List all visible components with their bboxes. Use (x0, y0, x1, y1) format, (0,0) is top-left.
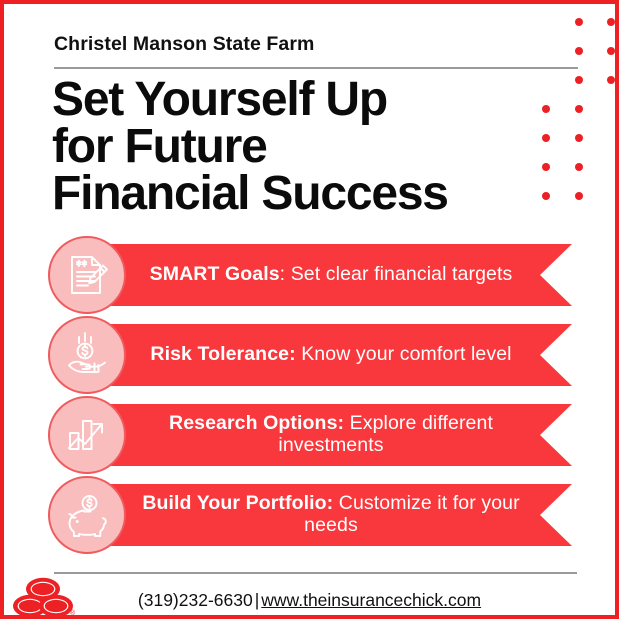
tip-text: Research Options: Explore different inve… (134, 404, 528, 466)
ribbon-notch (540, 324, 572, 386)
tip-row: Build Your Portfolio: Customize it for y… (4, 476, 619, 556)
tip-icon-badge (48, 476, 126, 554)
headline-line-3: Financial Success (52, 170, 522, 217)
hand-holding-coin-icon (64, 332, 110, 378)
infographic-poster: Christel Manson State Farm Set Yourself … (0, 0, 619, 619)
piggy-bank-coin-icon (64, 492, 110, 538)
bar-chart-growth-arrow-icon (64, 412, 110, 458)
footer-divider (54, 572, 577, 574)
tip-ribbon: Research Options: Explore different inve… (86, 404, 572, 466)
header-divider (54, 67, 578, 69)
ribbon-notch (540, 244, 572, 306)
tip-row: SMART Goals: Set clear financial targets (4, 236, 619, 316)
tip-icon-badge (48, 396, 126, 474)
tip-ribbon: Risk Tolerance: Know your comfort level (86, 324, 572, 386)
tip-ribbon: SMART Goals: Set clear financial targets (86, 244, 572, 306)
decorative-dot (575, 47, 583, 55)
decorative-dot (575, 76, 583, 84)
headline-line-2: for Future (52, 123, 522, 170)
website-link[interactable]: www.theinsurancechick.com (261, 590, 481, 610)
tip-label: Research Options: (169, 412, 344, 434)
tip-row: Risk Tolerance: Know your comfort level (4, 316, 619, 396)
contact-line: (319)232-6630|www.theinsurancechick.com (4, 590, 615, 611)
dot-grid (534, 4, 619, 204)
decorative-dot (575, 18, 583, 26)
tip-row: Research Options: Explore different inve… (4, 396, 619, 476)
registered-trademark-mark: ® (70, 610, 75, 617)
tip-description: Know your comfort level (296, 343, 512, 365)
decorative-dot (575, 105, 583, 113)
tip-label: Build Your Portfolio: (142, 492, 333, 514)
decorative-dot (542, 134, 550, 142)
tip-text: Build Your Portfolio: Customize it for y… (134, 484, 528, 546)
decorative-dot (542, 105, 550, 113)
page-title: Christel Manson State Farm (54, 33, 315, 56)
tip-text: SMART Goals: Set clear financial targets (134, 244, 528, 306)
headline-line-1: Set Yourself Up (52, 76, 522, 123)
tip-description: Customize it for your needs (304, 492, 520, 536)
ribbon-notch (540, 404, 572, 466)
tip-text: Risk Tolerance: Know your comfort level (134, 324, 528, 386)
contact-separator: | (253, 590, 262, 610)
tips-list: SMART Goals: Set clear financial targets… (4, 236, 619, 556)
phone-number[interactable]: (319)232-6630 (138, 590, 253, 610)
tip-icon-badge (48, 316, 126, 394)
tip-label: SMART Goals (150, 263, 280, 285)
tip-description: Set clear financial targets (285, 263, 512, 285)
decorative-dot (575, 192, 583, 200)
tip-ribbon: Build Your Portfolio: Customize it for y… (86, 484, 572, 546)
decorative-dot (542, 192, 550, 200)
decorative-dot (607, 18, 615, 26)
decorative-dot (607, 47, 615, 55)
decorative-dot (607, 76, 615, 84)
headline: Set Yourself Up for Future Financial Suc… (52, 76, 522, 217)
decorative-dot (575, 134, 583, 142)
decorative-dot (542, 163, 550, 171)
ribbon-notch (540, 484, 572, 546)
tip-label: Risk Tolerance: (150, 343, 295, 365)
decorative-dot (575, 163, 583, 171)
tip-icon-badge (48, 236, 126, 314)
document-dollar-pencil-icon (64, 252, 110, 298)
